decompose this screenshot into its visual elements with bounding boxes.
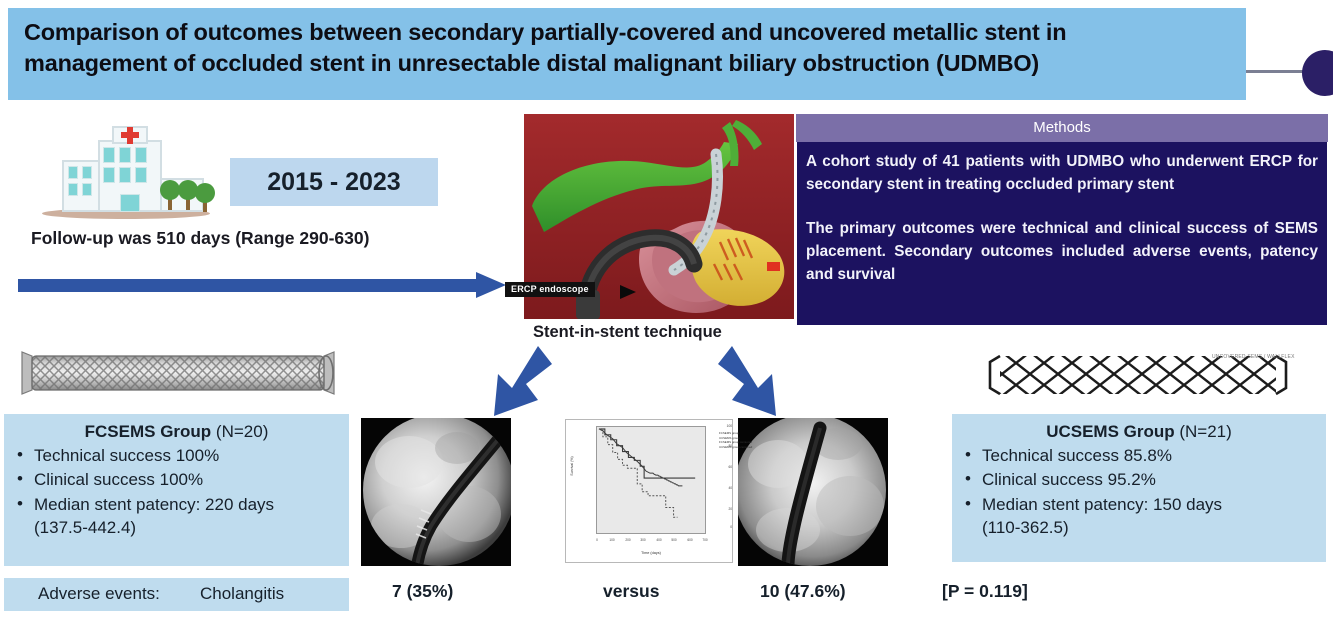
km-step-fcsems: [599, 429, 695, 478]
fluoroscopy-left-svg: [361, 418, 511, 566]
list-item: • Technical success 100%: [34, 444, 343, 467]
title-connector-line: [1246, 70, 1308, 73]
p-value-label: [P = 0.119]: [942, 581, 1028, 602]
adverse-events-bar: Adverse events: Cholangitis: [4, 578, 349, 611]
km-y-axis-label: Survival (%): [570, 436, 574, 496]
km-y-tick: 20: [706, 507, 732, 511]
list-item: • Clinical success 95.2%: [982, 468, 1320, 491]
methods-spacer: [806, 197, 1318, 217]
endoscope-pointer-arrow-icon: [620, 285, 636, 299]
km-x-tick: 600: [687, 538, 692, 542]
ucsems-group-title-n: (N=21): [1179, 422, 1231, 441]
bullet-icon: •: [17, 443, 23, 466]
fcsems-item-text: Clinical success 100%: [34, 470, 203, 489]
ucsems-group-title-bold: UCSEMS Group: [1046, 422, 1179, 441]
ucsems-outcome-list: • Technical success 85.8% • Clinical suc…: [952, 444, 1326, 540]
fcsems-group-title: FCSEMS Group (N=20): [4, 422, 349, 442]
timeline-arrow-shaft: [18, 279, 480, 292]
hospital-window: [135, 147, 147, 163]
followup-text: Follow-up was 510 days (Range 290-630): [31, 228, 369, 249]
fluoroscopy-right-svg: [738, 418, 888, 566]
hospital-window: [68, 183, 78, 196]
branch-arrow-left-svg: [476, 344, 554, 418]
ucsems-group-box: UCSEMS Group (N=21) • Technical success …: [952, 414, 1326, 562]
km-y-tick: 60: [706, 465, 732, 469]
fcsems-group-title-bold: FCSEMS Group: [85, 422, 216, 441]
methods-paragraph-1: A cohort study of 41 patients with UDMBO…: [806, 150, 1318, 197]
fcsems-group-box: FCSEMS Group (N=20) • Technical success …: [4, 414, 349, 566]
branch-arrow-right: [716, 344, 794, 423]
hospital-window: [103, 147, 115, 163]
fcsems-item-text: Median stent patency: 220 days: [34, 495, 274, 514]
tumour-marker: [767, 262, 780, 271]
km-x-tick: 200: [625, 538, 630, 542]
ucsems-item-text: Clinical success 95.2%: [982, 470, 1156, 489]
ucsems-stent-watermark: UNCOVERED SEMS / WALLFLEX: [1212, 354, 1295, 360]
hospital-window: [82, 166, 92, 179]
list-item: • Median stent patency: 220 days (137.5-…: [34, 493, 343, 540]
hospital-window: [135, 167, 147, 183]
hospital-window: [82, 183, 92, 196]
methods-body: A cohort study of 41 patients with UDMBO…: [806, 150, 1318, 286]
ucsems-adverse-count: 10 (47.6%): [760, 581, 846, 602]
title-line-2: management of occluded stent in unresect…: [24, 48, 1230, 79]
fcsems-adverse-count: 7 (35%): [392, 581, 453, 602]
list-item: • Technical success 85.8%: [982, 444, 1320, 467]
km-y-tick: 40: [706, 486, 732, 490]
km-series-fcsems: [599, 429, 682, 486]
infographic-canvas: Comparison of outcomes between secondary…: [0, 0, 1333, 622]
km-y-tick: 100: [706, 424, 732, 428]
hospital-door: [120, 194, 140, 212]
km-step-ucsems: [599, 429, 678, 517]
km-y-tick: 0: [706, 525, 732, 529]
methods-header: Methods: [796, 114, 1328, 142]
study-period-badge: 2015 - 2023: [230, 158, 438, 206]
survival-curve-chart: FCSEMS group UCSEMS group FCSEMS group c…: [565, 419, 733, 563]
methods-paragraph-2: The primary outcomes were technical and …: [806, 217, 1318, 287]
title-accent-circle: [1302, 50, 1333, 96]
comparator-label: versus: [603, 581, 659, 602]
km-x-tick: 700: [702, 538, 707, 542]
tree-icon: [195, 183, 215, 203]
hospital-icon: [40, 122, 212, 222]
hospital-window: [119, 167, 131, 183]
adverse-events-value: Cholangitis: [200, 584, 284, 604]
red-cross-icon-bar: [121, 132, 139, 138]
fcsems-item-range: (137.5-442.4): [34, 516, 343, 539]
km-curves-svg: [597, 427, 705, 533]
km-x-axis-label: Time (days): [596, 551, 706, 555]
hospital-window: [68, 166, 78, 179]
bullet-icon: •: [965, 467, 971, 490]
stent-in-stent-caption: Stent-in-stent technique: [533, 323, 722, 342]
study-period-label: 2015 - 2023: [230, 158, 438, 206]
km-x-tick: 100: [609, 538, 614, 542]
fcsems-item-text: Technical success 100%: [34, 446, 219, 465]
km-x-tick: 400: [656, 538, 661, 542]
branch-arrow-right-svg: [716, 344, 794, 418]
km-x-tick: 300: [640, 538, 645, 542]
fluoroscopy-image-fcsems: [361, 418, 511, 566]
list-item: • Median stent patency: 150 days (110-36…: [982, 493, 1320, 540]
bullet-icon: •: [17, 467, 23, 490]
km-x-tick: 0: [596, 538, 598, 542]
fcsems-stent-image: [18, 348, 338, 398]
ucsems-item-text: Median stent patency: 150 days: [982, 495, 1222, 514]
km-y-tick: 80: [706, 444, 732, 448]
timeline-arrow-head: [476, 272, 506, 298]
timeline-arrow: [18, 272, 508, 298]
tree-icon: [160, 180, 180, 200]
ucsems-group-title: UCSEMS Group (N=21): [952, 422, 1326, 442]
bullet-icon: •: [17, 492, 23, 515]
page-title: Comparison of outcomes between secondary…: [8, 8, 1246, 100]
hospital-window: [103, 167, 115, 183]
fluoroscopy-image-ucsems: [738, 418, 888, 566]
bullet-icon: •: [965, 492, 971, 515]
fcsems-outcome-list: • Technical success 100% • Clinical succ…: [4, 444, 349, 540]
bullet-icon: •: [965, 443, 971, 466]
title-line-1: Comparison of outcomes between secondary…: [24, 17, 1230, 48]
ercp-endoscope-label: ERCP endoscope: [505, 282, 595, 297]
methods-header-label: Methods: [796, 114, 1328, 142]
hospital-window: [119, 147, 131, 163]
ucsems-item-range: (110-362.5): [982, 516, 1320, 539]
fcsems-stent-svg: [18, 348, 338, 398]
ucsems-item-text: Technical success 85.8%: [982, 446, 1172, 465]
fcsems-group-title-n: (N=20): [216, 422, 268, 441]
branch-arrow-left: [476, 344, 554, 423]
list-item: • Clinical success 100%: [34, 468, 343, 491]
adverse-events-label: Adverse events:: [38, 584, 160, 604]
km-x-tick: 500: [671, 538, 676, 542]
km-plot-area: FCSEMS group UCSEMS group FCSEMS group c…: [596, 426, 706, 534]
